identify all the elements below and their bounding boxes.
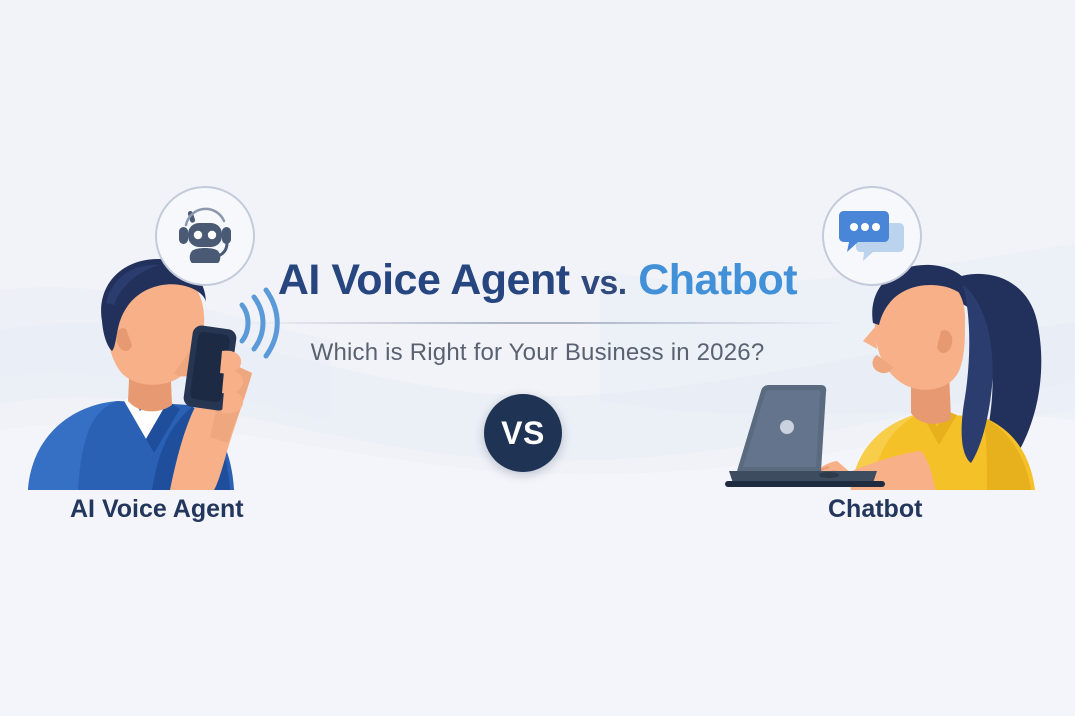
page-subtitle: Which is Right for Your Business in 2026… [0, 339, 1075, 367]
poster-canvas: AI Voice Agent vs. Chatbot Which is Righ… [0, 0, 1075, 716]
title-divider [233, 322, 843, 324]
vs-badge: VS [484, 394, 562, 472]
headline-part-vs: vs. [581, 264, 627, 302]
label-chatbot: Chatbot [828, 495, 922, 524]
headline-part-chatbot: Chatbot [638, 256, 797, 304]
label-ai-voice-agent: AI Voice Agent [70, 495, 244, 524]
page-headline: AI Voice Agent vs. Chatbot [0, 258, 1075, 303]
title-block: AI Voice Agent vs. Chatbot [0, 258, 1075, 303]
headline-part-voice-agent: AI Voice Agent [278, 256, 570, 304]
vs-badge-label: VS [501, 415, 545, 452]
